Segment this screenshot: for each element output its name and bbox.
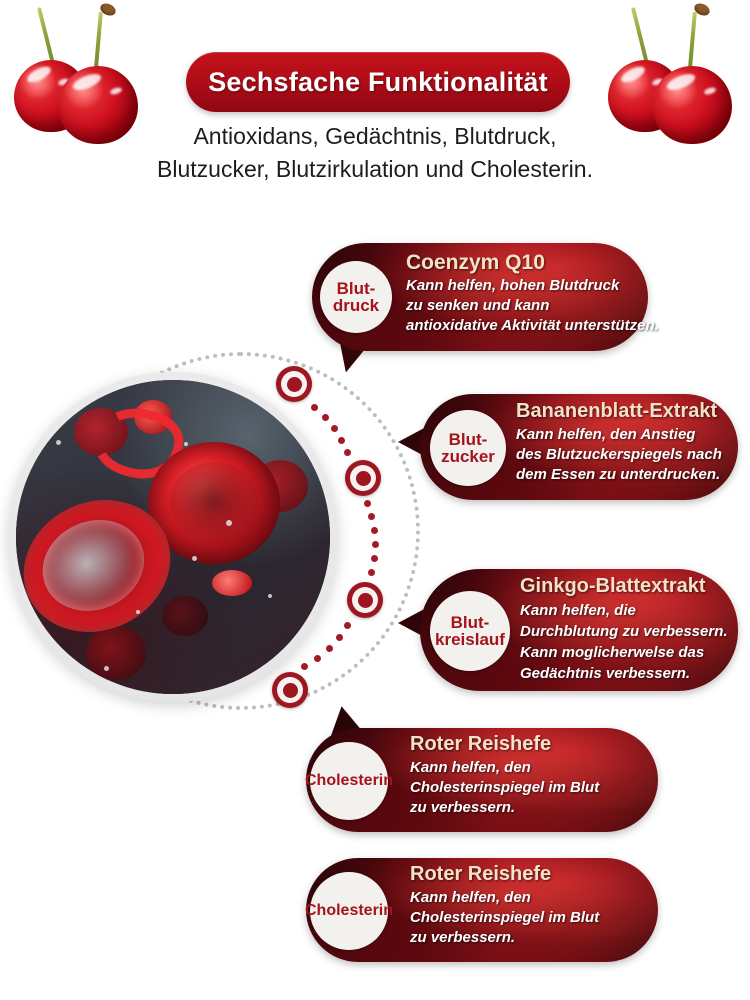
- card-description: Kann helfen, den Anstieg des Blutzuckers…: [516, 425, 722, 485]
- desc-line: Kann helfen, den: [410, 888, 599, 908]
- cherry-stem-icon: [688, 11, 697, 68]
- badge-line-1: Blut-: [441, 431, 495, 448]
- title-banner: Sechsfache Funktionalität: [186, 52, 570, 112]
- cherry-stem-icon: [94, 11, 103, 68]
- callout-card-roter-reishefe-2[interactable]: Cholesterin Roter Reishefe Kann helfen, …: [306, 858, 658, 962]
- desc-line: zu verbessern.: [410, 928, 599, 948]
- card-description: Kann helfen, die Durchblutung zu verbess…: [520, 600, 728, 684]
- subtitle: Antioxidans, Gedächtnis, Blutdruck, Blut…: [95, 120, 655, 186]
- badge-line-1: Blut-: [333, 280, 379, 297]
- badge-line-1: Blut-: [435, 614, 505, 631]
- desc-line: antioxidative Aktivität unterstützen.: [406, 316, 659, 336]
- bullseye-marker-1[interactable]: [276, 366, 312, 402]
- desc-line: Cholesterinspiegel im Blut: [410, 908, 599, 928]
- status-badge: Blut- druck: [320, 261, 392, 333]
- desc-line: dem Essen zu unterdrucken.: [516, 465, 722, 485]
- cherries-left-image: [8, 8, 148, 138]
- status-badge: Cholesterin: [310, 742, 388, 820]
- card-title: Roter Reishefe: [410, 733, 551, 756]
- subtitle-line-2: Blutzucker, Blutzirkulation und Choleste…: [95, 153, 655, 186]
- status-badge: Cholesterin: [310, 872, 388, 950]
- bullseye-marker-2[interactable]: [345, 460, 381, 496]
- status-badge: Blut- kreislauf: [430, 591, 510, 671]
- card-description: Kann helfen, den Cholesterinspiegel im B…: [410, 888, 599, 948]
- card-description: Kann helfen, den Cholesterinspiegel im B…: [410, 758, 599, 818]
- desc-line: des Blutzuckerspiegels nach: [516, 445, 722, 465]
- cherries-right-image: [602, 8, 742, 138]
- card-description: Kann helfen, hohen Blutdruck zu senken u…: [406, 276, 659, 336]
- badge-line-1: Cholesterin: [305, 773, 393, 789]
- desc-line: Kann helfen, hohen Blutdruck: [406, 276, 659, 296]
- bullseye-marker-4[interactable]: [272, 672, 308, 708]
- infographic-canvas: Sechsfache Funktionalität Antioxidans, G…: [0, 0, 750, 1000]
- desc-line: Kann moglicherwelse das: [520, 642, 728, 663]
- card-title: Bananenblatt-Extrakt: [516, 400, 717, 423]
- desc-line: Kann helfen, den Anstieg: [516, 425, 722, 445]
- callout-card-ginkgo-blattextrakt[interactable]: Blut- kreislauf Ginkgo-Blattextrakt Kann…: [420, 569, 738, 691]
- badge-line-1: Cholesterin: [305, 903, 393, 919]
- callout-card-bananenblatt-extrakt[interactable]: Blut- zucker Bananenblatt-Extrakt Kann h…: [420, 394, 738, 500]
- status-badge: Blut- zucker: [430, 410, 506, 486]
- badge-line-2: druck: [333, 297, 379, 314]
- desc-line: Durchblutung zu verbessern.: [520, 621, 728, 642]
- card-title: Roter Reishefe: [410, 863, 551, 886]
- badge-line-2: kreislauf: [435, 631, 505, 648]
- badge-line-2: zucker: [441, 448, 495, 465]
- desc-line: Gedächtnis verbessern.: [520, 663, 728, 684]
- subtitle-line-1: Antioxidans, Gedächtnis, Blutdruck,: [95, 120, 655, 153]
- card-title: Ginkgo-Blattextrakt: [520, 575, 706, 598]
- page-title: Sechsfache Funktionalität: [208, 67, 548, 98]
- desc-line: Kann helfen, die: [520, 600, 728, 621]
- cherry-fruit: [652, 66, 732, 144]
- desc-line: Cholesterinspiegel im Blut: [410, 778, 599, 798]
- card-title: Coenzym Q10: [406, 251, 545, 275]
- desc-line: Kann helfen, den: [410, 758, 599, 778]
- bullseye-marker-3[interactable]: [347, 582, 383, 618]
- callout-card-roter-reishefe-1[interactable]: Cholesterin Roter Reishefe Kann helfen, …: [306, 728, 658, 832]
- desc-line: zu senken und kann: [406, 296, 659, 316]
- blood-cells-image: [16, 380, 330, 694]
- desc-line: zu verbessern.: [410, 798, 599, 818]
- callout-card-coenzym-q10[interactable]: Blut- druck Coenzym Q10 Kann helfen, hoh…: [312, 243, 648, 351]
